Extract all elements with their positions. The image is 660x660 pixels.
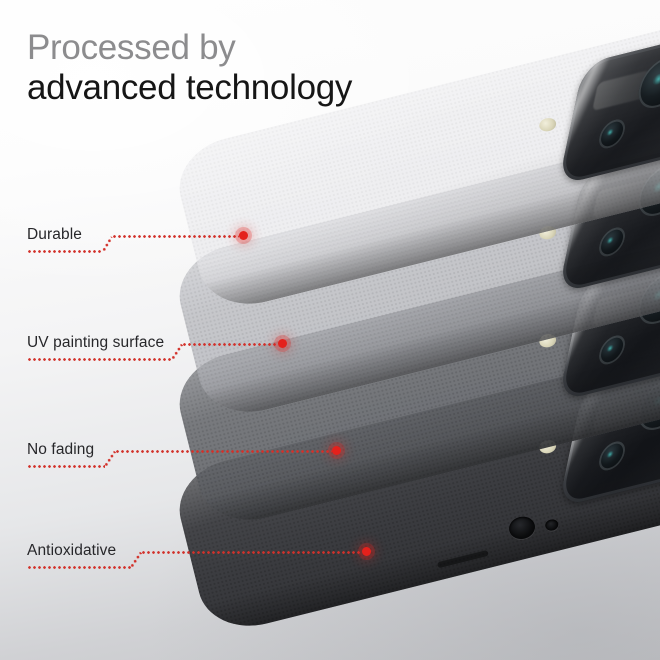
callout-underline-0 bbox=[27, 250, 103, 253]
callout-label-0: Durable bbox=[27, 226, 82, 244]
callout-label-1: UV painting surface bbox=[27, 334, 164, 352]
callout-leader-line-3 bbox=[141, 551, 362, 554]
callout-marker-3 bbox=[362, 547, 371, 556]
callout-leader-line-2 bbox=[115, 450, 332, 453]
callout-leader-line-0 bbox=[112, 235, 239, 238]
callout-marker-2 bbox=[332, 446, 341, 455]
callout-elbow-3 bbox=[130, 552, 142, 569]
callout-marker-0 bbox=[239, 231, 248, 240]
callout-leader-line-1 bbox=[182, 343, 278, 346]
callout-label-2: No fading bbox=[27, 441, 94, 459]
callout-marker-1 bbox=[278, 339, 287, 348]
callout-underline-1 bbox=[27, 358, 172, 361]
callout-elbow-0 bbox=[102, 236, 114, 253]
callout-underline-2 bbox=[27, 465, 105, 468]
callout-group: DurableUV painting surfaceNo fadingAntio… bbox=[0, 0, 660, 660]
callout-elbow-1 bbox=[171, 344, 183, 361]
callout-elbow-2 bbox=[104, 451, 116, 468]
callout-label-3: Antioxidative bbox=[27, 542, 116, 560]
callout-underline-3 bbox=[27, 566, 131, 569]
product-feature-image: Processed by advanced technology Durable… bbox=[0, 0, 660, 660]
